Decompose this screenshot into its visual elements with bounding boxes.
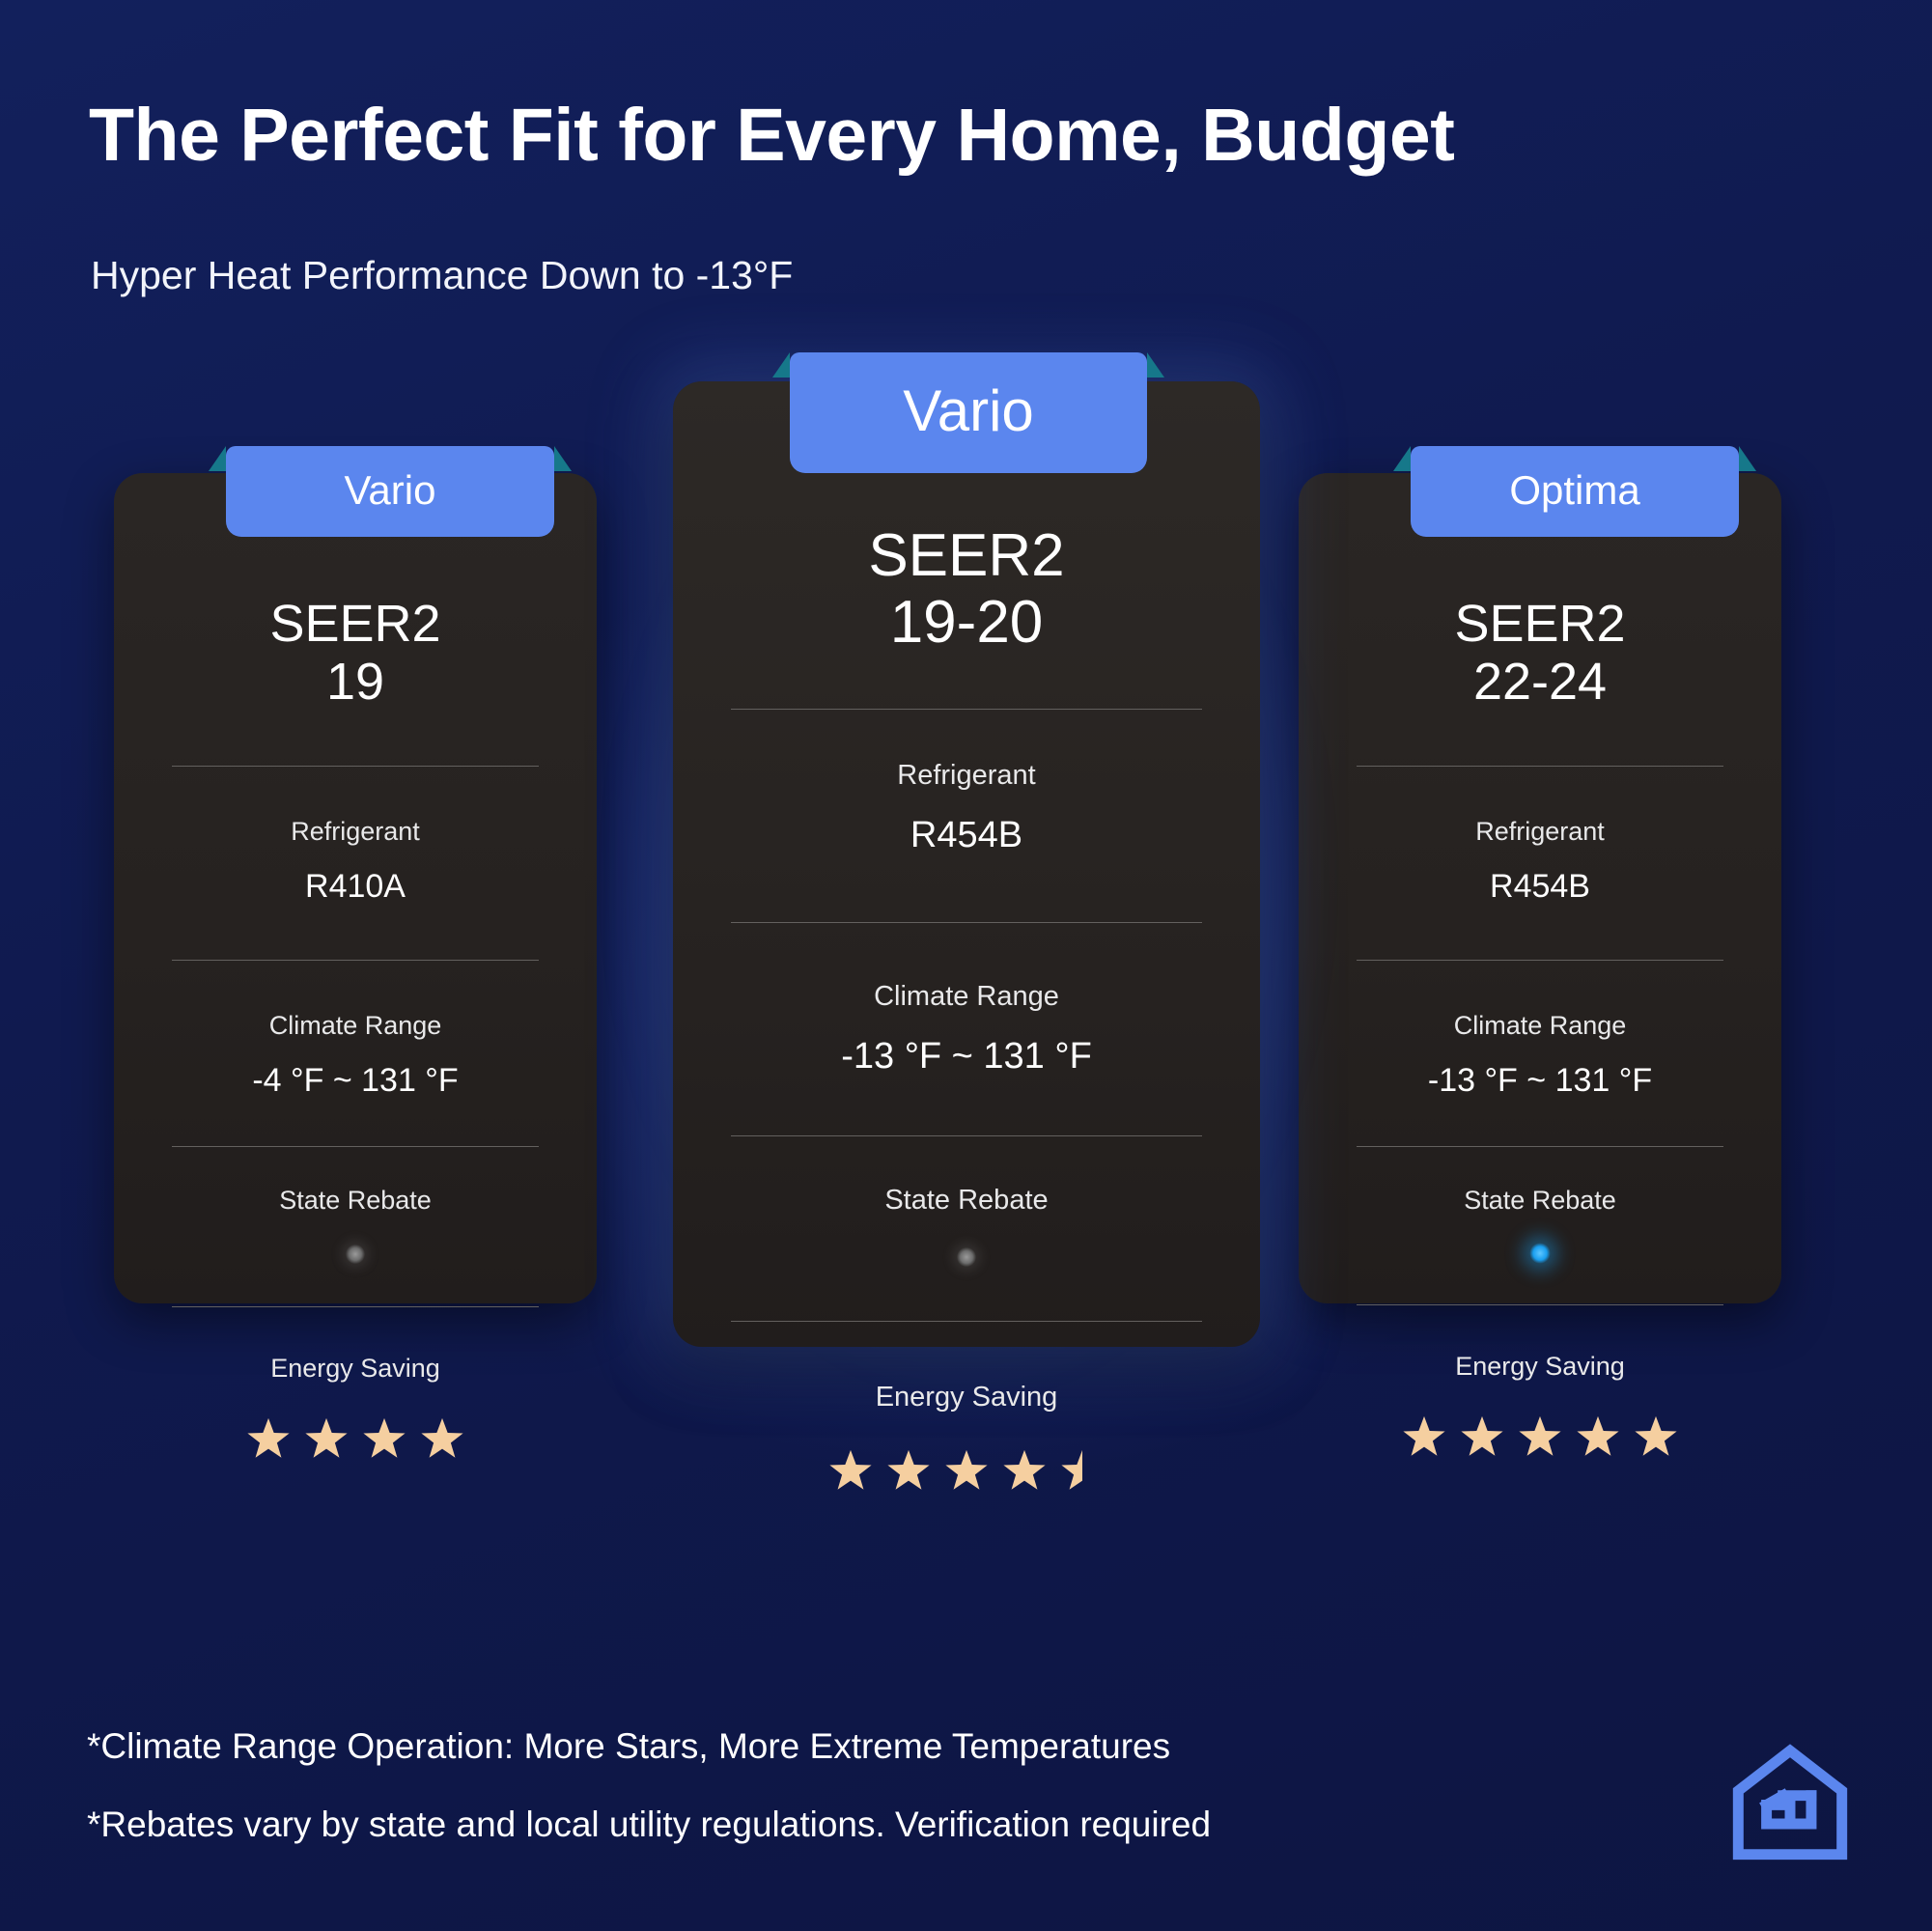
- climate-range-label: Climate Range: [1357, 1011, 1723, 1041]
- half-star-icon: [1059, 1448, 1106, 1495]
- seer-label-text: SEER2: [1357, 595, 1723, 653]
- climate-range-value: -13 °F ~ 131 °F: [1357, 1062, 1723, 1100]
- spec-state-rebate: State Rebate: [172, 1186, 539, 1264]
- climate-range-value: -13 °F ~ 131 °F: [731, 1036, 1202, 1077]
- seer-value-text: 19-20: [731, 589, 1202, 656]
- divider: [1357, 1146, 1723, 1147]
- refrigerant-value: R410A: [172, 868, 539, 906]
- card-badge-wrap-center: Vario: [790, 352, 1147, 473]
- refrigerant-value: R454B: [1357, 868, 1723, 906]
- spec-state-rebate: State Rebate: [1357, 1186, 1723, 1264]
- card-badge-wrap-left: Vario: [226, 446, 554, 537]
- spec-climate-range: Climate Range -4 °F ~ 131 °F: [172, 1011, 539, 1100]
- spec-refrigerant: Refrigerant R410A: [172, 817, 539, 906]
- divider: [172, 1146, 539, 1147]
- product-card-vario-19-20-featured[interactable]: SEER2 19-20 Refrigerant R454B Climate Ra…: [673, 381, 1260, 1347]
- product-card-vario-19[interactable]: SEER2 19 Refrigerant R410A Climate Range…: [114, 473, 597, 1303]
- divider: [1357, 1304, 1723, 1305]
- spec-climate-range: Climate Range -13 °F ~ 131 °F: [731, 981, 1202, 1077]
- divider: [731, 922, 1202, 923]
- spec-climate-range: Climate Range -13 °F ~ 131 °F: [1357, 1011, 1723, 1100]
- star-icon: [1633, 1414, 1679, 1461]
- climate-range-label: Climate Range: [172, 1011, 539, 1041]
- refrigerant-value: R454B: [731, 815, 1202, 856]
- divider: [731, 1321, 1202, 1322]
- energy-rating-stars: [731, 1448, 1202, 1495]
- climate-range-value: -4 °F ~ 131 °F: [172, 1062, 539, 1100]
- star-icon: [943, 1448, 990, 1495]
- divider: [172, 960, 539, 961]
- energy-saving-label: Energy Saving: [731, 1382, 1202, 1413]
- footnote-climate-range: *Climate Range Operation: More Stars, Mo…: [87, 1728, 1211, 1764]
- star-icon: [1517, 1414, 1563, 1461]
- page-subtitle: Hyper Heat Performance Down to -13°F: [91, 253, 793, 298]
- comparison-cards: SEER2 19 Refrigerant R410A Climate Range…: [0, 367, 1932, 1738]
- seer-value-text: 19: [172, 653, 539, 711]
- star-icon: [1459, 1414, 1505, 1461]
- rebate-status-indicator-icon: [957, 1247, 976, 1267]
- divider: [731, 1135, 1202, 1136]
- star-icon: [419, 1416, 465, 1463]
- divider: [731, 709, 1202, 710]
- refrigerant-label: Refrigerant: [172, 817, 539, 847]
- star-icon: [827, 1448, 874, 1495]
- spec-state-rebate: State Rebate: [731, 1185, 1202, 1267]
- infographic-root: The Perfect Fit for Every Home, Budget H…: [0, 0, 1932, 1931]
- card-content: SEER2 19 Refrigerant R410A Climate Range…: [114, 473, 597, 1463]
- seer-value-text: 22-24: [1357, 653, 1723, 711]
- seer-label-text: SEER2: [731, 522, 1202, 589]
- footnote-rebates: *Rebates vary by state and local utility…: [87, 1806, 1211, 1842]
- star-icon: [303, 1416, 350, 1463]
- refrigerant-label: Refrigerant: [731, 760, 1202, 792]
- spec-energy-saving: Energy Saving: [172, 1354, 539, 1463]
- star-icon: [1001, 1448, 1048, 1495]
- climate-range-label: Climate Range: [731, 981, 1202, 1013]
- card-badge-wrap-right: Optima: [1411, 446, 1739, 537]
- card-content: SEER2 19-20 Refrigerant R454B Climate Ra…: [673, 381, 1260, 1495]
- spec-energy-saving: Energy Saving: [731, 1382, 1202, 1495]
- star-icon: [1401, 1414, 1447, 1461]
- star-icon: [885, 1448, 932, 1495]
- footer-notes: *Climate Range Operation: More Stars, Mo…: [87, 1728, 1211, 1842]
- star-icon: [1575, 1414, 1621, 1461]
- energy-rating-stars: [172, 1416, 539, 1463]
- state-rebate-label: State Rebate: [172, 1186, 539, 1216]
- spec-refrigerant: Refrigerant R454B: [1357, 817, 1723, 906]
- star-icon: [245, 1416, 292, 1463]
- card-content: SEER2 22-24 Refrigerant R454B Climate Ra…: [1299, 473, 1781, 1461]
- product-card-optima[interactable]: SEER2 22-24 Refrigerant R454B Climate Ra…: [1299, 473, 1781, 1303]
- energy-saving-label: Energy Saving: [172, 1354, 539, 1384]
- product-badge-vario-center[interactable]: Vario: [790, 352, 1147, 473]
- energy-rating-stars: [1357, 1414, 1723, 1461]
- energy-saving-label: Energy Saving: [1357, 1352, 1723, 1382]
- star-icon: [361, 1416, 407, 1463]
- product-badge-vario-left[interactable]: Vario: [226, 446, 554, 537]
- rebate-status-indicator-icon: [346, 1245, 365, 1264]
- divider: [1357, 766, 1723, 767]
- home-brand-logo-icon: [1731, 1744, 1849, 1861]
- spec-refrigerant: Refrigerant R454B: [731, 760, 1202, 856]
- divider: [172, 1306, 539, 1307]
- state-rebate-label: State Rebate: [1357, 1186, 1723, 1216]
- rebate-status-indicator-icon: [1529, 1243, 1551, 1264]
- page-title: The Perfect Fit for Every Home, Budget: [89, 93, 1454, 179]
- seer-label-text: SEER2: [172, 595, 539, 653]
- spec-energy-saving: Energy Saving: [1357, 1352, 1723, 1461]
- state-rebate-label: State Rebate: [731, 1185, 1202, 1217]
- divider: [172, 766, 539, 767]
- divider: [1357, 960, 1723, 961]
- product-badge-optima[interactable]: Optima: [1411, 446, 1739, 537]
- refrigerant-label: Refrigerant: [1357, 817, 1723, 847]
